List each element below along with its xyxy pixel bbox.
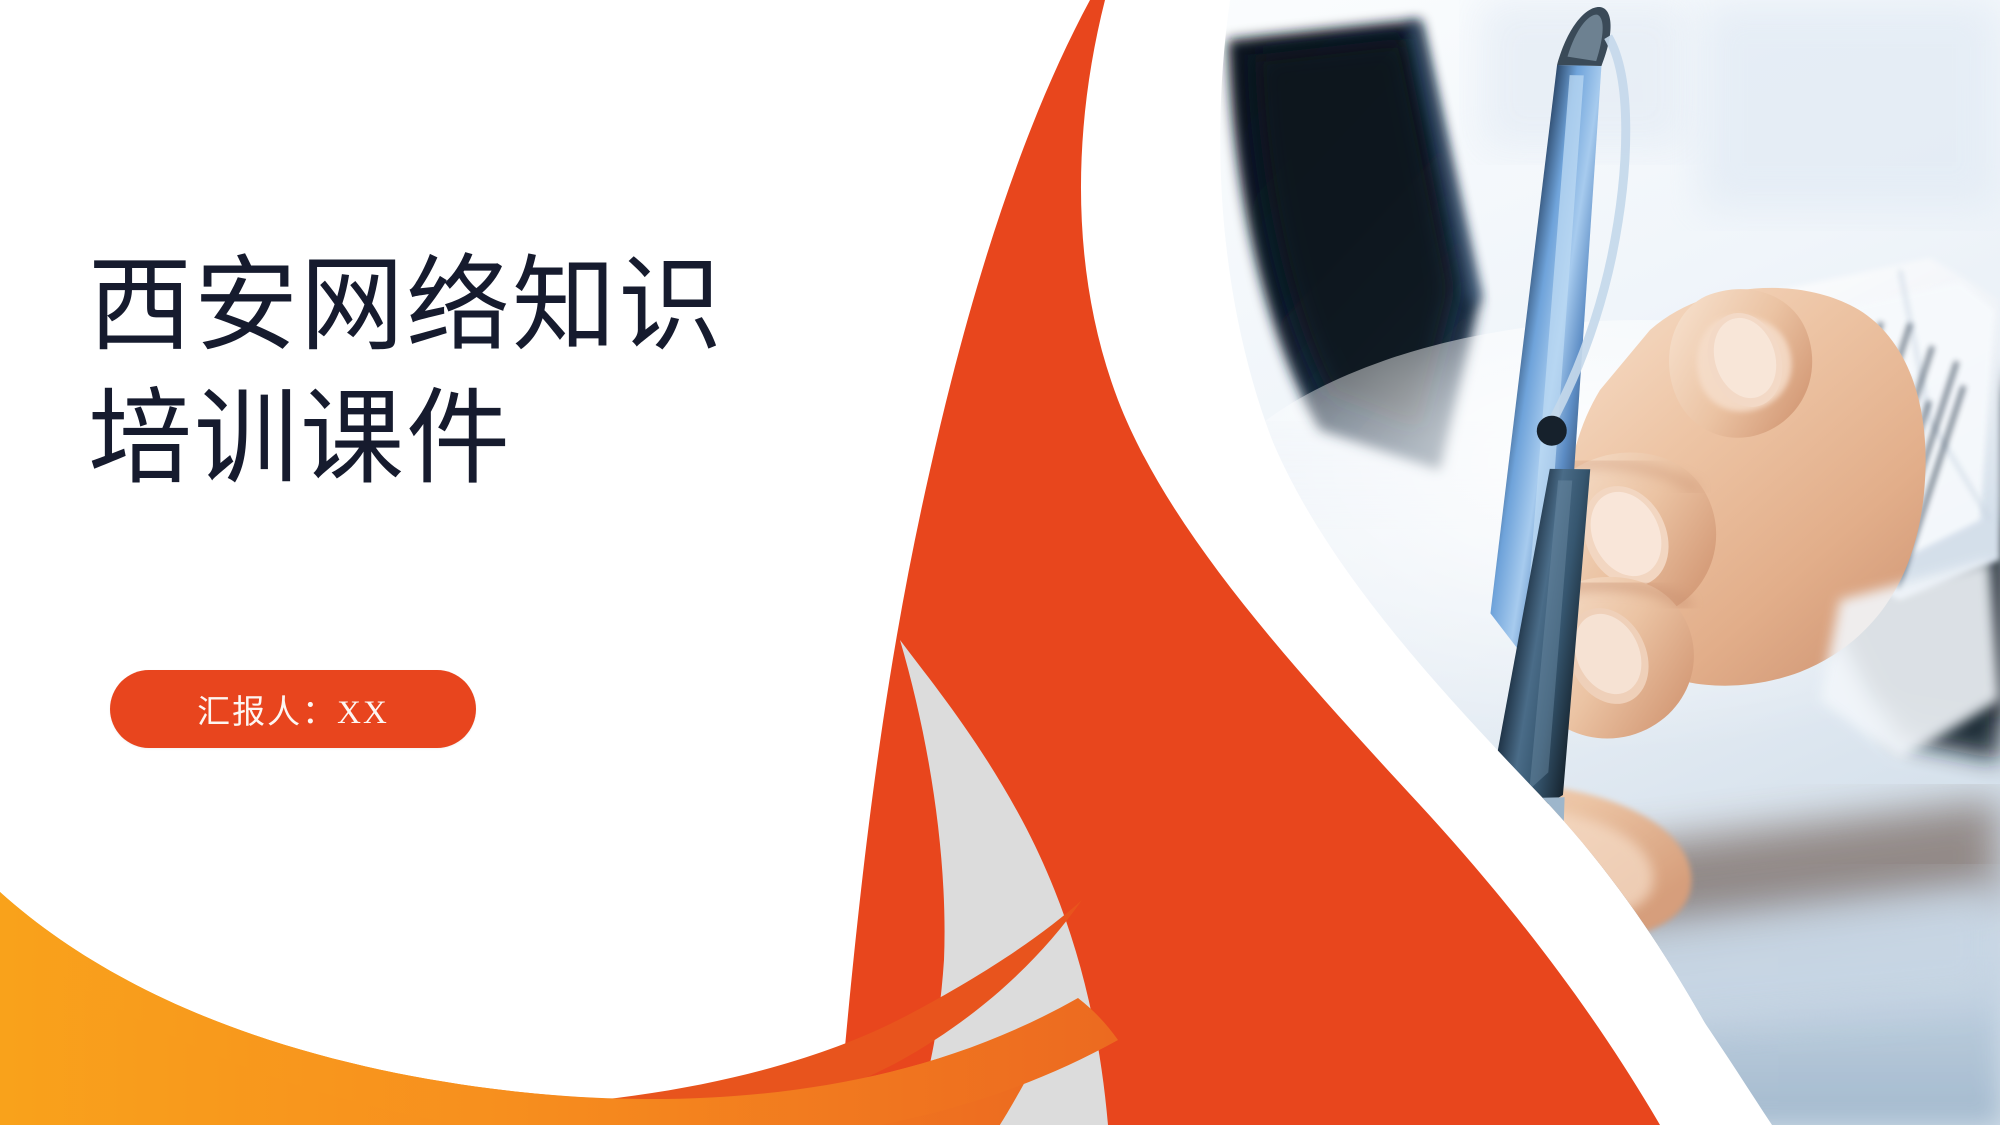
- slide-background-art: [0, 0, 2000, 1125]
- page-title: 西安网络知识 培训课件: [88, 240, 808, 506]
- presenter-badge[interactable]: 汇报人：XX: [110, 670, 476, 748]
- title-line-2: 培训课件: [88, 373, 808, 506]
- title-line-1: 西安网络知识: [88, 240, 808, 373]
- presentation-slide: 西安网络知识 培训课件 汇报人：XX: [0, 0, 2000, 1125]
- presenter-label: 汇报人：XX: [197, 685, 389, 733]
